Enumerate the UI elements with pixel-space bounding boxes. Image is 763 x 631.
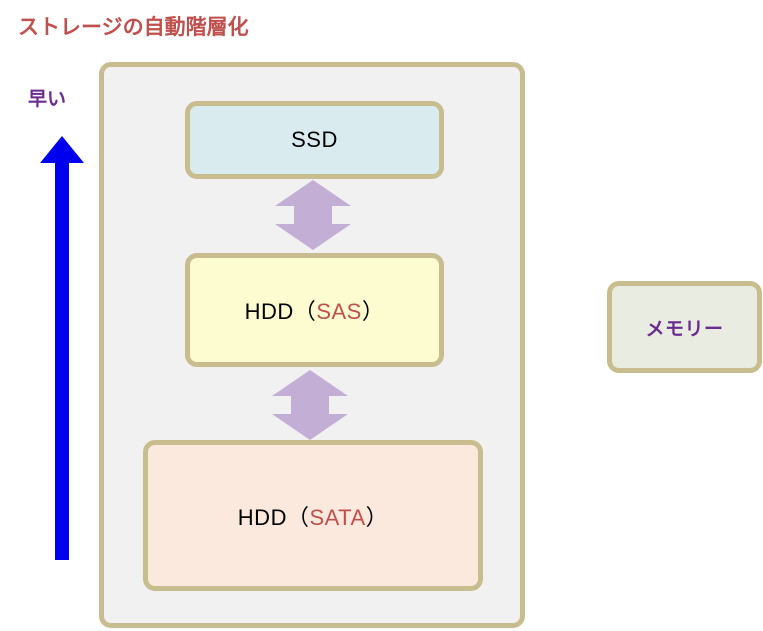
double-arrow-vertical-icon xyxy=(275,180,351,250)
page-title: ストレージの自動階層化 xyxy=(18,11,249,41)
tier-label-ssd: SSD xyxy=(291,127,338,153)
tier-box-hdd-sata[interactable]: HDD（SATA） xyxy=(143,440,483,591)
double-arrow-vertical-icon xyxy=(272,370,348,440)
diagram-canvas: ストレージの自動階層化 早い SSD HDD（SAS） HDD（SATA） メモ… xyxy=(0,0,763,631)
tier-label-sas-prefix: HDD（ xyxy=(245,299,317,324)
tier-label-hdd-sata: HDD（SATA） xyxy=(238,500,388,532)
memory-label: メモリー xyxy=(645,314,723,341)
speed-label: 早い xyxy=(28,84,66,111)
tier-label-sata-prefix: HDD（ xyxy=(238,505,310,530)
up-arrow-icon xyxy=(37,136,87,560)
tier-box-hdd-sas[interactable]: HDD（SAS） xyxy=(185,253,444,367)
tier-label-sata-suffix: ） xyxy=(366,505,389,530)
tier-label-sas-accent: SAS xyxy=(316,299,362,324)
tier-label-sata-accent: SATA xyxy=(309,505,365,530)
tier-label-sas-suffix: ） xyxy=(362,299,385,324)
tier-label-hdd-sas: HDD（SAS） xyxy=(245,294,385,326)
memory-box[interactable]: メモリー xyxy=(607,281,762,373)
tier-label-ssd-text: SSD xyxy=(291,127,338,152)
tier-box-ssd[interactable]: SSD xyxy=(185,101,444,179)
